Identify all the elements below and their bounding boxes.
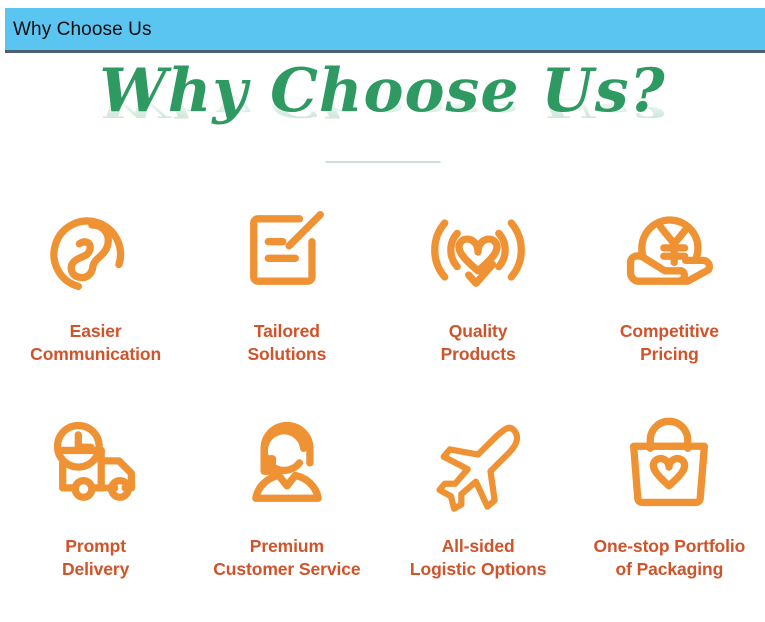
shopping-bag-heart-icon <box>617 413 721 517</box>
feature-label: Prompt Delivery <box>62 535 129 581</box>
feature-label: One-stop Portfolio of Packaging <box>593 535 745 581</box>
hand-holding-yen-coin-icon <box>617 198 721 302</box>
window-title: Why Choose Us <box>5 20 152 39</box>
note-with-pencil-icon <box>235 198 339 302</box>
delivery-truck-clock-icon <box>44 413 148 517</box>
title-divider <box>325 161 440 163</box>
feature-item-all-sided-logistic-options[interactable]: All-sided Logistic Options <box>383 407 574 622</box>
feature-item-easier-communication[interactable]: Easier Communication <box>0 192 191 407</box>
feature-item-premium-customer-service[interactable]: Premium Customer Service <box>191 407 382 622</box>
window-title-bar: Why Choose Us <box>5 8 765 53</box>
feature-grid: Easier Communication Tailored Solutions <box>0 192 765 622</box>
feature-item-quality-products[interactable]: Quality Products <box>383 192 574 407</box>
feature-item-prompt-delivery[interactable]: Prompt Delivery <box>0 407 191 622</box>
feature-label: Tailored Solutions <box>247 320 326 366</box>
feature-label: Premium Customer Service <box>213 535 360 581</box>
airplane-icon <box>426 413 530 517</box>
ear-in-circle-icon <box>44 198 148 302</box>
feature-label: Competitive Pricing <box>620 320 719 366</box>
heart-signal-check-icon <box>426 198 530 302</box>
feature-item-tailored-solutions[interactable]: Tailored Solutions <box>191 192 382 407</box>
page-title: Why Choose Us? <box>0 58 765 124</box>
feature-label: Quality Products <box>441 320 516 366</box>
feature-label: Easier Communication <box>30 320 161 366</box>
page-content: Why Choose Us? Why Choose Us? Easier Com… <box>0 56 765 599</box>
feature-item-one-stop-portfolio-of-packaging[interactable]: One-stop Portfolio of Packaging <box>574 407 765 622</box>
headset-agent-icon <box>235 413 339 517</box>
feature-label: All-sided Logistic Options <box>410 535 546 581</box>
feature-item-competitive-pricing[interactable]: Competitive Pricing <box>574 192 765 407</box>
hero-section: Why Choose Us? Why Choose Us? <box>0 56 765 168</box>
